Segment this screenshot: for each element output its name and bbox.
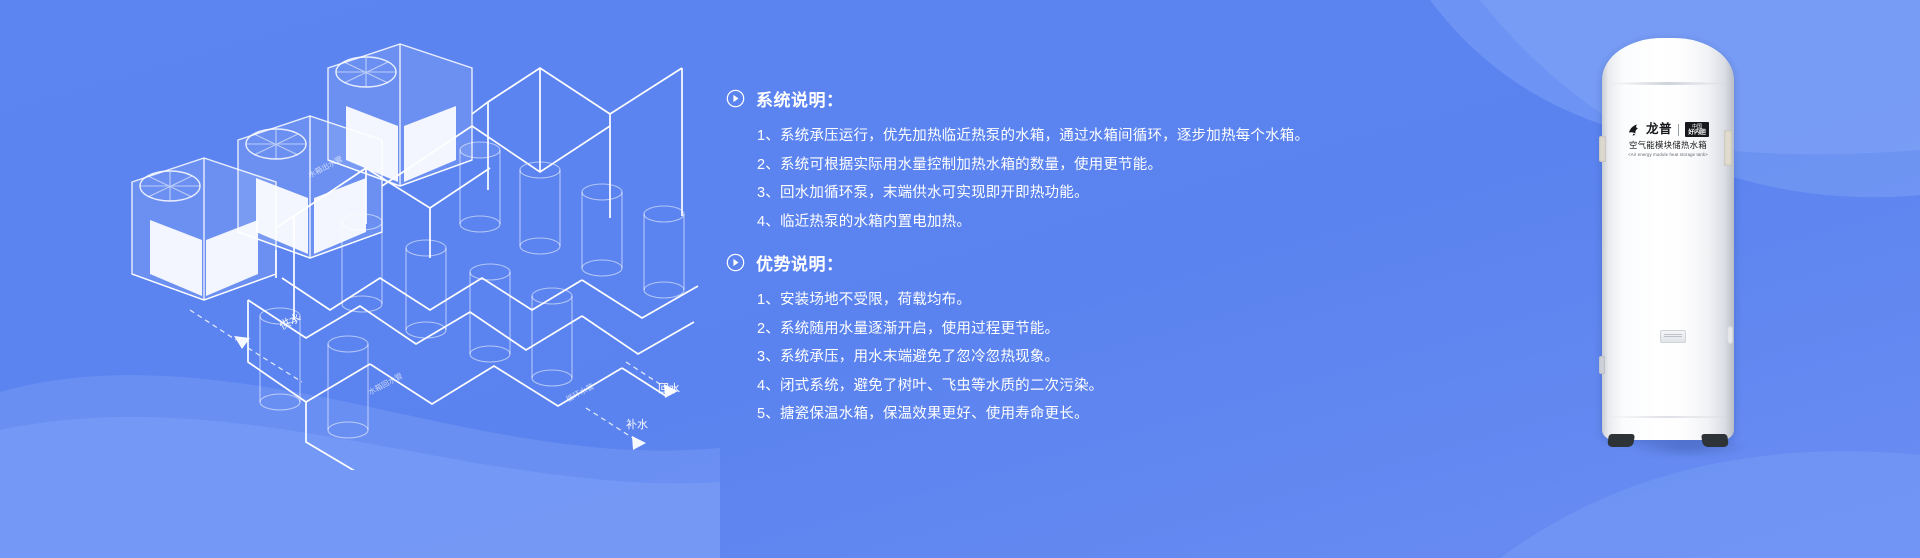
quality-badge: 中国 好内胆 xyxy=(1685,122,1709,137)
system-schematic-diagram: 供水 回水 补水 水箱出水管 水箱回水管 循环水管 xyxy=(70,10,730,470)
section-title: 系统说明： xyxy=(756,86,844,111)
brand-row: 龙普 中国 好内胆 xyxy=(1622,122,1714,137)
tank-bottom-seam xyxy=(1606,416,1730,418)
schematic-label-1: 回水 xyxy=(658,382,680,395)
storage-tank-row-back xyxy=(460,142,684,298)
brand-name: 龙普 xyxy=(1646,123,1672,136)
product-photo: 龙普 中国 好内胆 空气能模块储热水箱 <Air energy module h… xyxy=(1560,0,1920,558)
tank-port-left-upper xyxy=(1599,136,1606,162)
badge-top-text: 中国 xyxy=(1692,124,1702,130)
tank-body xyxy=(1602,38,1734,440)
product-title-en: <Air energy module heat storage tank> xyxy=(1622,152,1714,157)
play-circle-icon xyxy=(726,253,745,272)
tank-port-right-upper xyxy=(1724,130,1732,166)
list-item: 1、安装场地不受限，荷载均布。 xyxy=(757,286,1326,315)
section-bullet-list: 1、系统承压运行，优先加热临近热泵的水箱，通过水箱间循环，逐步加热每个水箱。 2… xyxy=(726,122,1326,236)
badge-bottom-text: 好内胆 xyxy=(1687,130,1707,136)
section-header: 系统说明： xyxy=(726,86,1326,111)
storage-tank-row-mid xyxy=(342,214,572,386)
list-item: 2、系统可根据实际用水量控制加热水箱的数量，使用更节能。 xyxy=(757,151,1326,180)
section-bullet-list: 1、安装场地不受限，荷载均布。 2、系统随用水量逐渐开启，使用过程更节能。 3、… xyxy=(726,286,1326,429)
tank-foot-right xyxy=(1701,434,1729,447)
list-item: 4、闭式系统，避免了树叶、飞虫等水质的二次污染。 xyxy=(757,372,1326,401)
dragon-logo-icon xyxy=(1627,123,1642,136)
list-item: 4、临近热泵的水箱内置电加热。 xyxy=(757,208,1326,237)
tank-port-right-lower xyxy=(1727,326,1733,344)
list-item: 2、系统随用水量逐渐开启，使用过程更节能。 xyxy=(757,315,1326,344)
list-item: 3、回水加循环泵，末端供水可实现即开即热功能。 xyxy=(757,179,1326,208)
section-header: 优势说明： xyxy=(726,250,1326,275)
tank-gauge-panel xyxy=(1660,330,1686,343)
list-item: 1、系统承压运行，优先加热临近热泵的水箱，通过水箱间循环，逐步加热每个水箱。 xyxy=(757,122,1326,151)
product-title-cn: 空气能模块储热水箱 xyxy=(1622,141,1714,150)
flow-arrow-markers xyxy=(234,336,678,450)
tank-feet xyxy=(1606,434,1730,450)
banner-stage: 供水 回水 补水 水箱出水管 水箱回水管 循环水管 系统说明： 1、系统承压运行… xyxy=(0,0,1920,558)
play-circle-icon xyxy=(726,89,745,108)
section-title: 优势说明： xyxy=(756,250,844,275)
tank-label: 龙普 中国 好内胆 空气能模块储热水箱 <Air energy module h… xyxy=(1622,122,1714,157)
tank-foot-left xyxy=(1607,434,1635,447)
schematic-label-2: 补水 xyxy=(626,418,648,431)
water-tank-graphic: 龙普 中国 好内胆 空气能模块储热水箱 <Air energy module h… xyxy=(1602,38,1734,448)
brand-divider xyxy=(1678,124,1679,136)
list-item: 5、搪瓷保温水箱，保温效果更好、使用寿命更长。 xyxy=(757,400,1326,429)
tank-top-seam xyxy=(1608,82,1728,85)
schematic-small-label-2: 循环水管 xyxy=(564,381,596,404)
heat-pump-unit-3 xyxy=(132,158,276,300)
description-copy-block: 系统说明： 1、系统承压运行，优先加热临近热泵的水箱，通过水箱间循环，逐步加热每… xyxy=(726,86,1326,431)
section-system-description: 系统说明： 1、系统承压运行，优先加热临近热泵的水箱，通过水箱间循环，逐步加热每… xyxy=(726,86,1326,236)
storage-tank-row-front xyxy=(260,308,368,438)
list-item: 3、系统承压，用水末端避免了忽冷忽热现象。 xyxy=(757,343,1326,372)
tank-port-left-lower xyxy=(1599,356,1605,374)
section-advantage-description: 优势说明： 1、安装场地不受限，荷载均布。 2、系统随用水量逐渐开启，使用过程更… xyxy=(726,250,1326,429)
